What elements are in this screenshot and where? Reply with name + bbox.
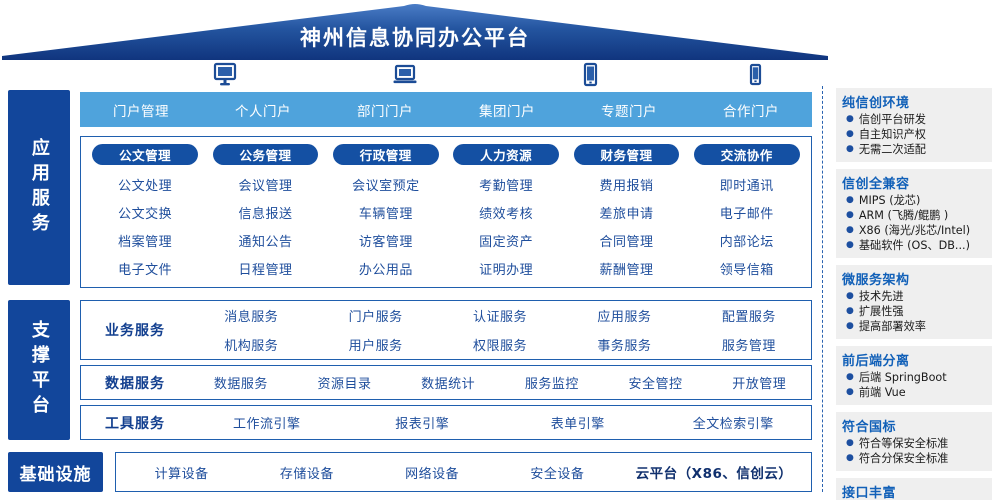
tool-service-label: 工具服务 — [81, 413, 189, 433]
app-item[interactable]: 公文处理 — [118, 170, 172, 198]
sidebar-divider — [822, 86, 823, 492]
app-item[interactable]: 车辆管理 — [359, 198, 413, 226]
app-item[interactable]: 电子邮件 — [720, 198, 774, 226]
bullet-icon: ● — [846, 370, 854, 385]
sidebar-list-item: ●技术先进 — [842, 289, 986, 304]
business-service-item[interactable]: 权限服务 — [438, 335, 562, 354]
data-service-body: 数据服务 资源目录 数据统计 服务监控 安全管控 开放管理 — [189, 366, 811, 399]
data-service-row: 数据服务 资源目录 数据统计 服务监控 安全管控 开放管理 — [189, 366, 811, 399]
sidebar-list-item: ●MIPS (龙芯) — [842, 193, 986, 208]
data-service-item[interactable]: 服务监控 — [500, 373, 604, 392]
app-column-header[interactable]: 财务管理 — [574, 144, 680, 165]
app-item[interactable]: 固定资产 — [479, 226, 533, 254]
business-service-item[interactable]: 服务管理 — [687, 335, 811, 354]
sidebar-section-heading: 纯信创环境 — [842, 92, 986, 111]
sidebar-section-heading: 符合国标 — [842, 416, 986, 435]
app-item[interactable]: 通知公告 — [238, 226, 292, 254]
bullet-icon: ● — [846, 142, 854, 157]
app-item[interactable]: 公文交换 — [118, 198, 172, 226]
sidebar-section-heading: 微服务架构 — [842, 269, 986, 288]
data-service-item[interactable]: 数据服务 — [189, 373, 293, 392]
app-column-header[interactable]: 公务管理 — [213, 144, 319, 165]
business-service-item[interactable]: 配置服务 — [687, 306, 811, 325]
app-item[interactable]: 领导信箱 — [720, 254, 774, 282]
portal-item[interactable]: 专题门户 — [568, 100, 690, 120]
app-item[interactable]: 合同管理 — [599, 226, 653, 254]
app-item[interactable]: 费用报销 — [599, 170, 653, 198]
sidebar-list-item: ●扩展性强 — [842, 304, 986, 319]
sidebar-list-item-text: 技术先进 — [859, 289, 904, 304]
sidebar-list-item: ●自主知识产权 — [842, 127, 986, 142]
tool-service-item[interactable]: 报表引擎 — [345, 413, 501, 432]
tool-service-row: 工作流引擎 报表引擎 表单引擎 全文检索引擎 — [189, 406, 811, 439]
sidebar-section: 信创全兼容 ●MIPS (龙芯) ●ARM (飞腾/鲲鹏 ) ●X86 (海光/… — [836, 169, 992, 258]
sidebar-list-item-text: 信创平台研发 — [859, 112, 926, 127]
bullet-icon: ● — [846, 319, 854, 334]
sidebar-list-item: ●后端 SpringBoot — [842, 370, 986, 385]
tablet-icon — [570, 62, 610, 90]
infrastructure-box: 计算设备 存储设备 网络设备 安全设备 云平台（X86、信创云） — [115, 452, 812, 492]
app-item[interactable]: 访客管理 — [359, 226, 413, 254]
sidebar-list-item-text: 扩展性强 — [859, 304, 904, 319]
sidebar-section: 接口丰富 ●开放API管理 — [836, 478, 992, 500]
layer-label-support: 支撑平台 — [8, 300, 70, 440]
app-column-header[interactable]: 公文管理 — [92, 144, 198, 165]
device-icon-row — [85, 62, 810, 90]
sidebar-list-item: ●提高部署效率 — [842, 319, 986, 334]
sidebar-list-item: ●基础软件 (OS、DB...) — [842, 238, 986, 253]
bullet-icon: ● — [846, 451, 854, 466]
tool-service-item[interactable]: 全文检索引擎 — [656, 413, 812, 432]
business-service-item[interactable]: 机构服务 — [189, 335, 313, 354]
app-item[interactable]: 即时通讯 — [720, 170, 774, 198]
sidebar-section-heading: 前后端分离 — [842, 350, 986, 369]
portal-item[interactable]: 个人门户 — [202, 100, 324, 120]
business-service-item[interactable]: 认证服务 — [438, 306, 562, 325]
roof-banner: 神州信息协同办公平台 — [0, 0, 830, 62]
laptop-icon — [385, 62, 425, 90]
bullet-icon: ● — [846, 436, 854, 451]
app-item[interactable]: 证明办理 — [479, 254, 533, 282]
infrastructure-row: 计算设备 存储设备 网络设备 安全设备 云平台（X86、信创云） — [119, 456, 808, 488]
app-item[interactable]: 办公用品 — [359, 254, 413, 282]
bullet-icon: ● — [846, 223, 854, 238]
sidebar-section: 前后端分离 ●后端 SpringBoot ●前端 Vue — [836, 346, 992, 405]
application-service-grid: 公文管理 公文处理 公文交换 档案管理 电子文件 公务管理 会议管理 信息报送 … — [80, 136, 812, 288]
phone-icon — [735, 62, 775, 90]
layer-label-application: 应用服务 — [8, 90, 70, 285]
business-service-label: 业务服务 — [81, 320, 189, 340]
layer-label-infrastructure: 基础设施 — [8, 452, 103, 492]
business-service-item[interactable]: 门户服务 — [313, 306, 437, 325]
business-service-item[interactable]: 消息服务 — [189, 306, 313, 325]
app-item[interactable]: 薪酬管理 — [599, 254, 653, 282]
sidebar-section: 符合国标 ●符合等保安全标准 ●符合分保安全标准 — [836, 412, 992, 471]
app-column: 交流协作 即时通讯 电子邮件 内部论坛 领导信箱 — [687, 144, 807, 282]
sidebar-list-item-text: 符合等保安全标准 — [859, 436, 949, 451]
tool-service-item[interactable]: 工作流引擎 — [189, 413, 345, 432]
business-service-item[interactable]: 用户服务 — [313, 335, 437, 354]
app-item[interactable]: 日程管理 — [238, 254, 292, 282]
sidebar-list-item-text: X86 (海光/兆芯/Intel) — [859, 223, 970, 238]
data-service-label: 数据服务 — [81, 373, 189, 393]
sidebar-section: 纯信创环境 ●信创平台研发 ●自主知识产权 ●无需二次适配 — [836, 88, 992, 162]
business-service-row: 消息服务 门户服务 认证服务 应用服务 配置服务 — [189, 301, 811, 330]
portal-bar: 门户管理 个人门户 部门门户 集团门户 专题门户 合作门户 — [80, 92, 812, 127]
sidebar-list-item: ●X86 (海光/兆芯/Intel) — [842, 223, 986, 238]
sidebar-list-item: ●信创平台研发 — [842, 112, 986, 127]
sidebar-section: 微服务架构 ●技术先进 ●扩展性强 ●提高部署效率 — [836, 265, 992, 339]
app-item[interactable]: 绩效考核 — [479, 198, 533, 226]
bullet-icon: ● — [846, 127, 854, 142]
app-item[interactable]: 内部论坛 — [720, 226, 774, 254]
bullet-icon: ● — [846, 208, 854, 223]
sidebar-list-item: ●符合分保安全标准 — [842, 451, 986, 466]
sidebar-list-item: ●无需二次适配 — [842, 142, 986, 157]
sidebar-list-item: ●前端 Vue — [842, 385, 986, 400]
sidebar-list-item-text: 基础软件 (OS、DB...) — [859, 238, 970, 253]
app-column: 公务管理 会议管理 信息报送 通知公告 日程管理 — [205, 144, 325, 282]
sidebar-list-item-text: ARM (飞腾/鲲鹏 ) — [859, 208, 948, 223]
infrastructure-item[interactable]: 存储设备 — [244, 463, 369, 482]
app-column: 公文管理 公文处理 公文交换 档案管理 电子文件 — [85, 144, 205, 282]
data-service-item[interactable]: 资源目录 — [293, 373, 397, 392]
data-service-box: 数据服务 数据服务 资源目录 数据统计 服务监控 安全管控 开放管理 — [80, 365, 812, 400]
app-item[interactable]: 考勤管理 — [479, 170, 533, 198]
app-item[interactable]: 会议室预定 — [352, 170, 420, 198]
bullet-icon: ● — [846, 112, 854, 127]
bullet-icon: ● — [846, 385, 854, 400]
app-column-header[interactable]: 行政管理 — [333, 144, 439, 165]
infrastructure-item[interactable]: 计算设备 — [119, 463, 244, 482]
layer-label-support-text: 支撑平台 — [29, 320, 49, 420]
feature-sidebar: 纯信创环境 ●信创平台研发 ●自主知识产权 ●无需二次适配 信创全兼容 ●MIP… — [836, 88, 992, 500]
tool-service-body: 工作流引擎 报表引擎 表单引擎 全文检索引擎 — [189, 406, 811, 439]
app-item[interactable]: 信息报送 — [238, 198, 292, 226]
business-service-body: 消息服务 门户服务 认证服务 应用服务 配置服务 机构服务 用户服务 权限服务 … — [189, 301, 811, 359]
business-service-row: 机构服务 用户服务 权限服务 事务服务 服务管理 — [189, 330, 811, 359]
app-column: 人力资源 考勤管理 绩效考核 固定资产 证明办理 — [446, 144, 566, 282]
app-column-header[interactable]: 人力资源 — [453, 144, 559, 165]
sidebar-section-heading: 信创全兼容 — [842, 173, 986, 192]
app-item[interactable]: 档案管理 — [118, 226, 172, 254]
sidebar-list-item: ●符合等保安全标准 — [842, 436, 986, 451]
data-service-item[interactable]: 开放管理 — [707, 373, 811, 392]
app-item[interactable]: 电子文件 — [118, 254, 172, 282]
diagram-root: 神州信息协同办公平台 — [0, 0, 1000, 500]
sidebar-list-item-text: 符合分保安全标准 — [859, 451, 949, 466]
sidebar-list-item-text: MIPS (龙芯) — [859, 193, 920, 208]
app-item[interactable]: 差旅申请 — [599, 198, 653, 226]
sidebar-list-item-text: 前端 Vue — [859, 385, 906, 400]
sidebar-list-item-text: 无需二次适配 — [859, 142, 926, 157]
business-service-item[interactable]: 应用服务 — [562, 306, 686, 325]
tool-service-item[interactable]: 表单引擎 — [500, 413, 656, 432]
app-item[interactable]: 会议管理 — [238, 170, 292, 198]
portal-item[interactable]: 门户管理 — [80, 100, 202, 120]
sidebar-list-item-text: 提高部署效率 — [859, 319, 926, 334]
infrastructure-item[interactable]: 网络设备 — [370, 463, 495, 482]
bullet-icon: ● — [846, 193, 854, 208]
business-service-item[interactable]: 事务服务 — [562, 335, 686, 354]
business-service-box: 业务服务 消息服务 门户服务 认证服务 应用服务 配置服务 机构服务 用户服务 … — [80, 300, 812, 360]
infrastructure-item[interactable]: 安全设备 — [495, 463, 620, 482]
app-column-header[interactable]: 交流协作 — [694, 144, 800, 165]
bullet-icon: ● — [846, 304, 854, 319]
page-title: 神州信息协同办公平台 — [0, 22, 830, 52]
bullet-icon: ● — [846, 289, 854, 304]
data-service-item[interactable]: 安全管控 — [604, 373, 708, 392]
portal-item[interactable]: 合作门户 — [690, 100, 812, 120]
sidebar-list-item: ●ARM (飞腾/鲲鹏 ) — [842, 208, 986, 223]
app-column: 财务管理 费用报销 差旅申请 合同管理 薪酬管理 — [566, 144, 686, 282]
sidebar-section-heading: 接口丰富 — [842, 482, 986, 500]
portal-item[interactable]: 集团门户 — [446, 100, 568, 120]
sidebar-list-item-text: 自主知识产权 — [859, 127, 926, 142]
sidebar-list-item-text: 后端 SpringBoot — [859, 370, 947, 385]
infrastructure-cloud-platform[interactable]: 云平台（X86、信创云） — [620, 462, 808, 482]
app-column: 行政管理 会议室预定 车辆管理 访客管理 办公用品 — [326, 144, 446, 282]
tool-service-box: 工具服务 工作流引擎 报表引擎 表单引擎 全文检索引擎 — [80, 405, 812, 440]
layer-label-application-text: 应用服务 — [29, 138, 49, 238]
desktop-icon — [205, 62, 245, 90]
portal-item[interactable]: 部门门户 — [324, 100, 446, 120]
bullet-icon: ● — [846, 238, 854, 253]
data-service-item[interactable]: 数据统计 — [396, 373, 500, 392]
